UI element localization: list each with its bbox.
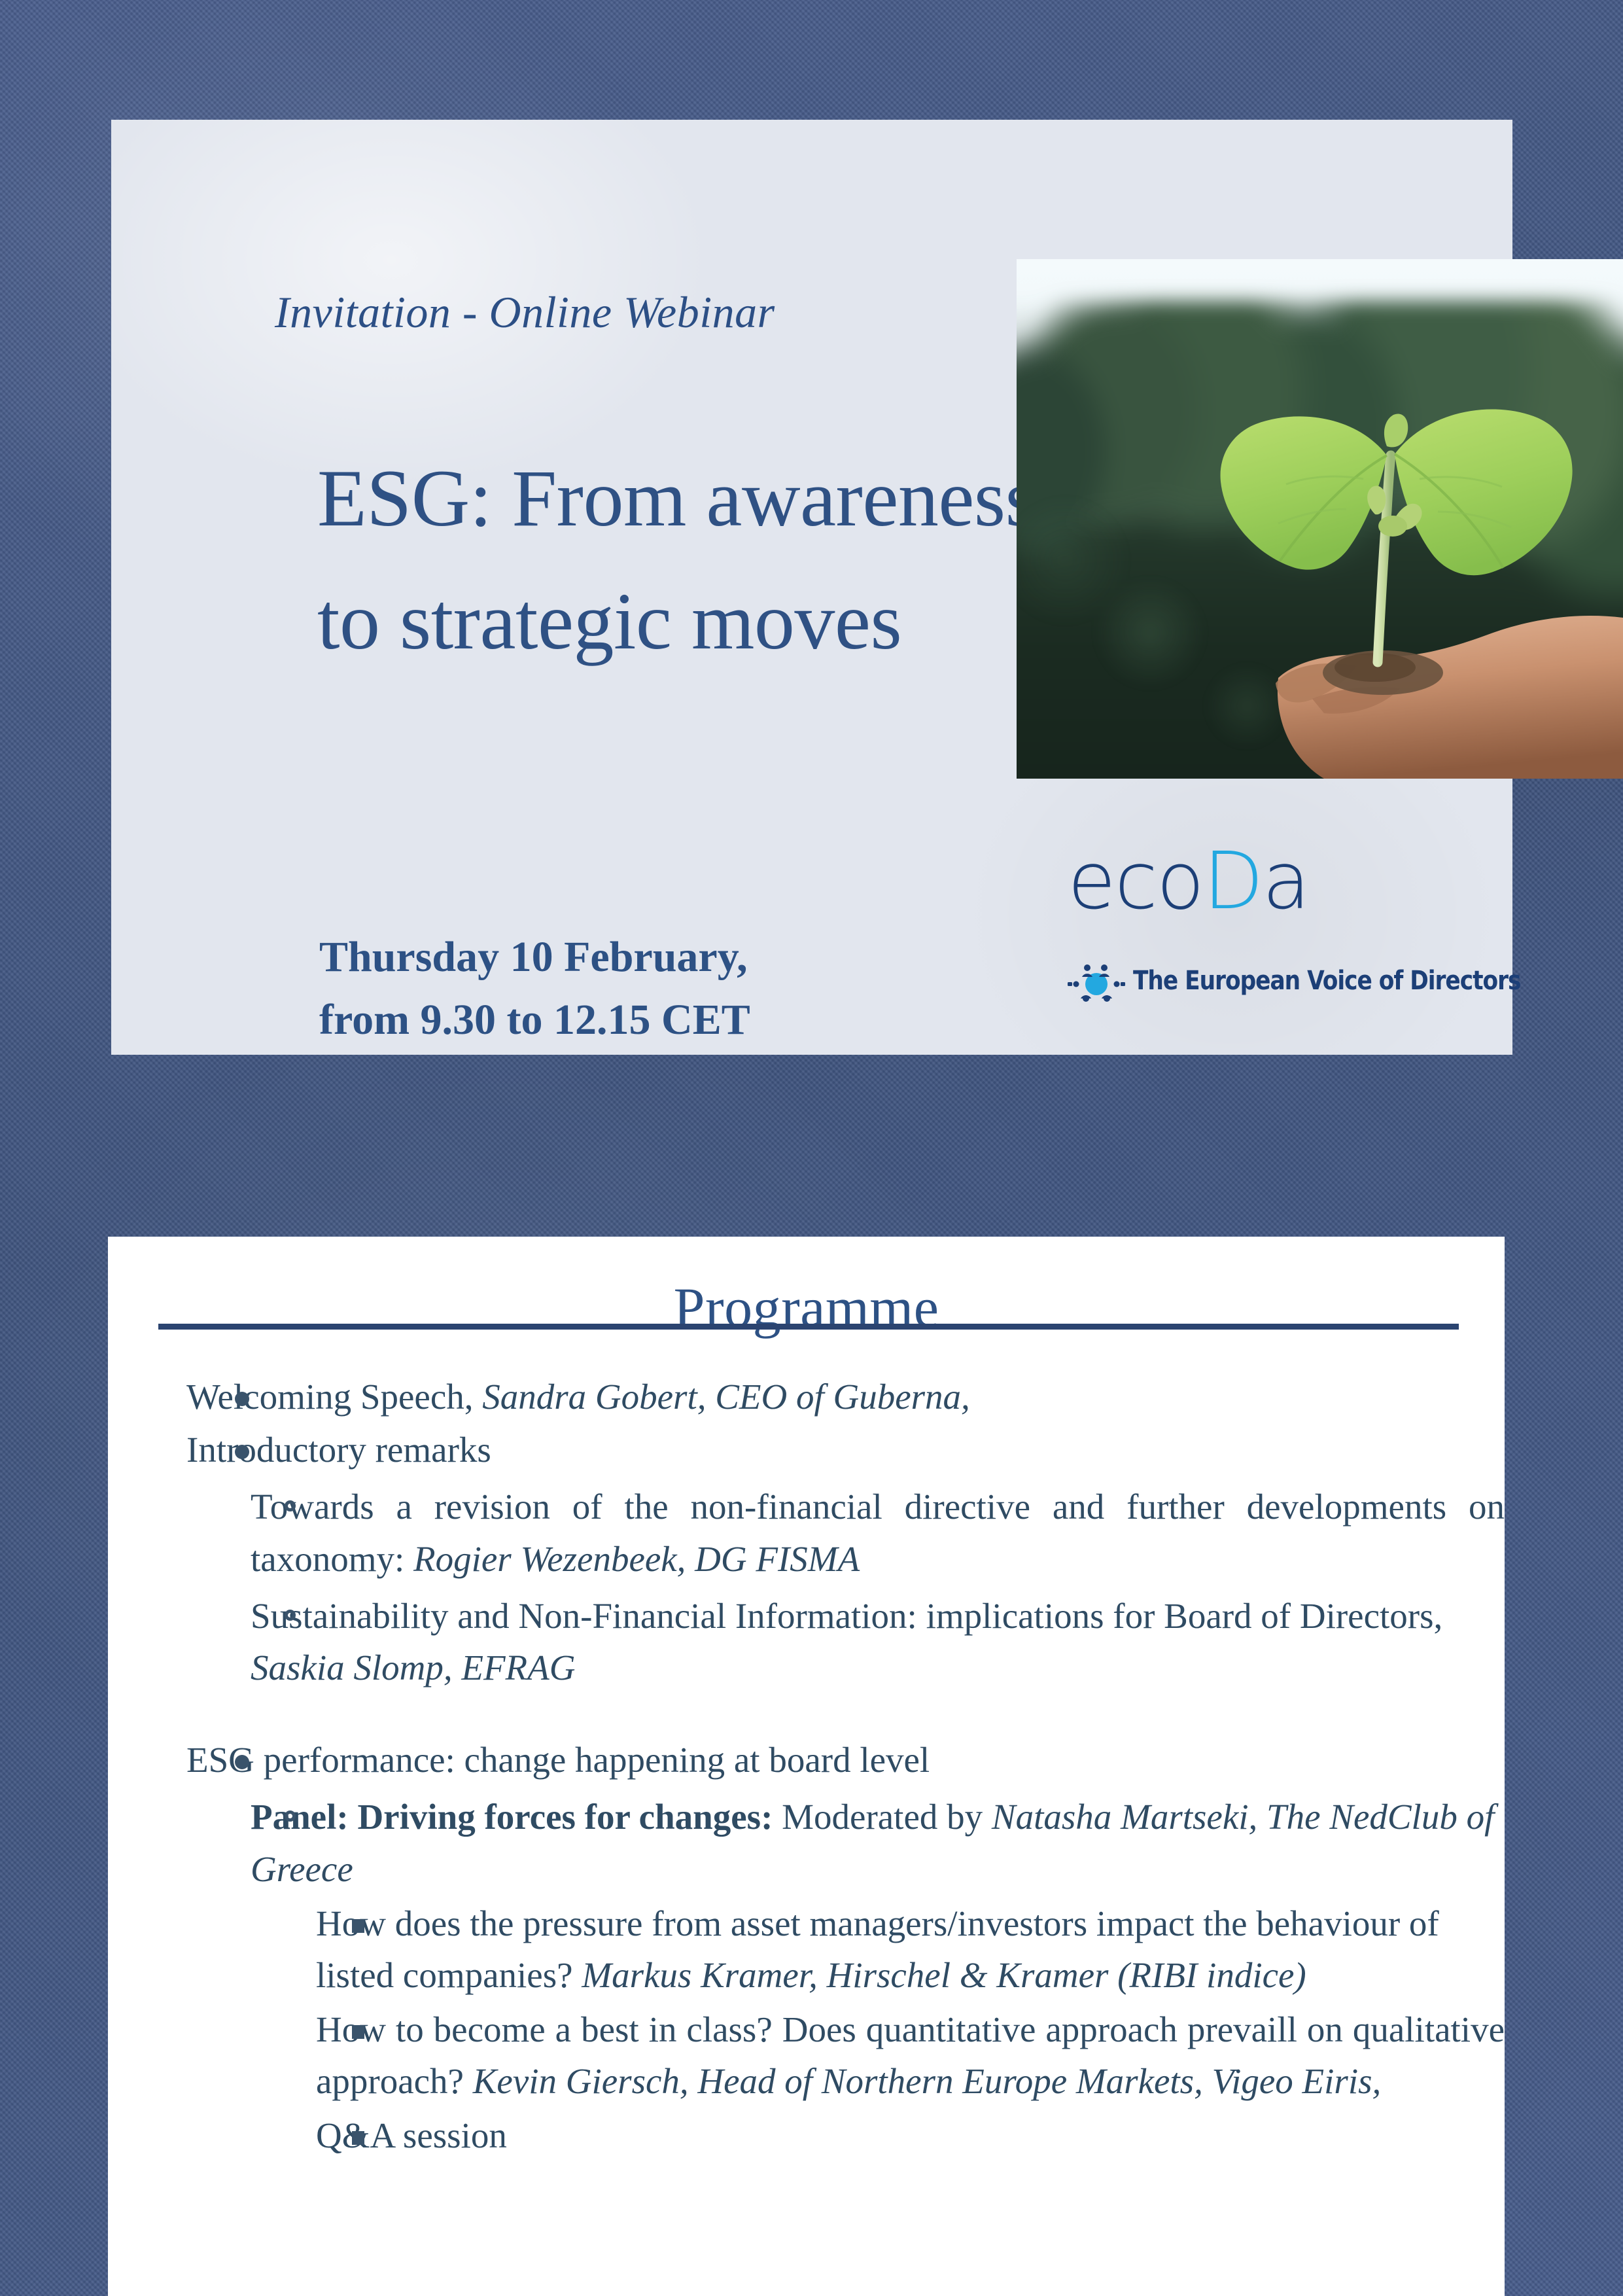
agenda-text-segment: Welcoming Speech,	[186, 1377, 482, 1417]
page-title: ESG: From awareness to strategic moves	[317, 437, 1089, 684]
agenda-item-level2: Sustainability and Non-Financial Informa…	[186, 1590, 1505, 1693]
logo-tagline: The European Voice of Directors	[1133, 966, 1520, 996]
photo-subject	[1017, 259, 1623, 779]
agenda-item-level3: How does the pressure from asset manager…	[251, 1898, 1505, 2001]
programme-heading: Programme	[108, 1275, 1505, 1340]
agenda-item-text: Panel: Driving forces for changes: Moder…	[251, 1791, 1505, 1894]
programme-divider	[158, 1324, 1459, 1330]
agenda-text-segment: Q&A session	[316, 2115, 507, 2155]
agenda-item-level1: ESG performance: change happening at boa…	[108, 1734, 1505, 2162]
agenda-text-segment: Markus Kramer, Hirschel & Kramer (RIBI i…	[582, 1955, 1306, 1995]
agenda-text-segment: Introductory remarks	[186, 1430, 491, 1470]
agenda-text-segment: Panel: Driving forces for changes:	[251, 1797, 773, 1837]
agenda-item-level2: Towards a revision of the non-financial …	[186, 1481, 1505, 1584]
agenda-item-text: ESG performance: change happening at boa…	[186, 1734, 1505, 1786]
agenda-text-segment: Rogier Wezenbeek, DG FISMA	[413, 1539, 860, 1579]
agenda-root-list: Welcoming Speech, Sandra Gobert, CEO of …	[108, 1371, 1505, 2162]
logo-tagline-row: The European Voice of Directors	[1066, 959, 1584, 1002]
agenda-text-segment: ESG performance: change happening at boa…	[186, 1740, 930, 1780]
agenda-spacer	[108, 1695, 1505, 1734]
agenda-text-segment: Moderated by	[773, 1797, 992, 1837]
agenda-item-level3: Q&A session	[251, 2110, 1505, 2161]
logo-text-a: a	[1263, 836, 1310, 927]
agenda-item-text: Sustainability and Non-Financial Informa…	[251, 1590, 1505, 1693]
agenda-item-level1: Welcoming Speech, Sandra Gobert, CEO of …	[108, 1371, 1505, 1422]
programme-list: Welcoming Speech, Sandra Gobert, CEO of …	[108, 1371, 1505, 2163]
ecoda-logo: ecoDa The European Voice of Directors	[1053, 843, 1478, 1010]
ecoda-wordmark: ecoDa	[1068, 843, 1309, 921]
logo-text-d: D	[1203, 836, 1262, 927]
agenda-sublist-level2: Towards a revision of the non-financial …	[186, 1481, 1505, 1693]
agenda-sublist-level2: Panel: Driving forces for changes: Moder…	[186, 1791, 1505, 2161]
agenda-item-level3: How to become a best in class? Does quan…	[251, 2004, 1505, 2107]
event-date-line: Thursday 10 February,	[319, 926, 1052, 989]
hand-holding-seedling-photo	[1017, 259, 1623, 779]
agenda-item-text: Introductory remarks	[186, 1424, 1505, 1475]
agenda-text-segment: Saskia Slomp, EFRAG	[251, 1648, 575, 1687]
agenda-item-text: How to become a best in class? Does quan…	[316, 2004, 1505, 2107]
agenda-item-text: Welcoming Speech, Sandra Gobert, CEO of …	[186, 1371, 1505, 1422]
agenda-item-text: Q&A session	[316, 2110, 1505, 2161]
agenda-item-level2: Panel: Driving forces for changes: Moder…	[186, 1791, 1505, 2161]
agenda-sublist-level3: How does the pressure from asset manager…	[251, 1898, 1505, 2162]
agenda-item-text: How does the pressure from asset manager…	[316, 1898, 1505, 2001]
agenda-text-segment: Kevin Giersch, Head of Northern Europe M…	[473, 2061, 1382, 2101]
logo-text-eco: eco	[1068, 836, 1203, 927]
event-datetime: Thursday 10 February, from 9.30 to 12.15…	[319, 926, 1052, 1051]
agenda-item-text: Towards a revision of the non-financial …	[251, 1481, 1505, 1584]
event-time-line: from 9.30 to 12.15 CET	[319, 989, 1052, 1051]
agenda-text-segment: Sustainability and Non-Financial Informa…	[251, 1596, 1442, 1636]
programme-panel: Programme Welcoming Speech, Sandra Gober…	[108, 1237, 1505, 2296]
agenda-text-segment: Sandra Gobert, CEO of Guberna,	[482, 1377, 970, 1417]
agenda-item-level1: Introductory remarksTowards a revision o…	[108, 1424, 1505, 1693]
people-circle-icon	[1066, 959, 1126, 1002]
invitation-kicker: Invitation - Online Webinar	[275, 287, 775, 338]
